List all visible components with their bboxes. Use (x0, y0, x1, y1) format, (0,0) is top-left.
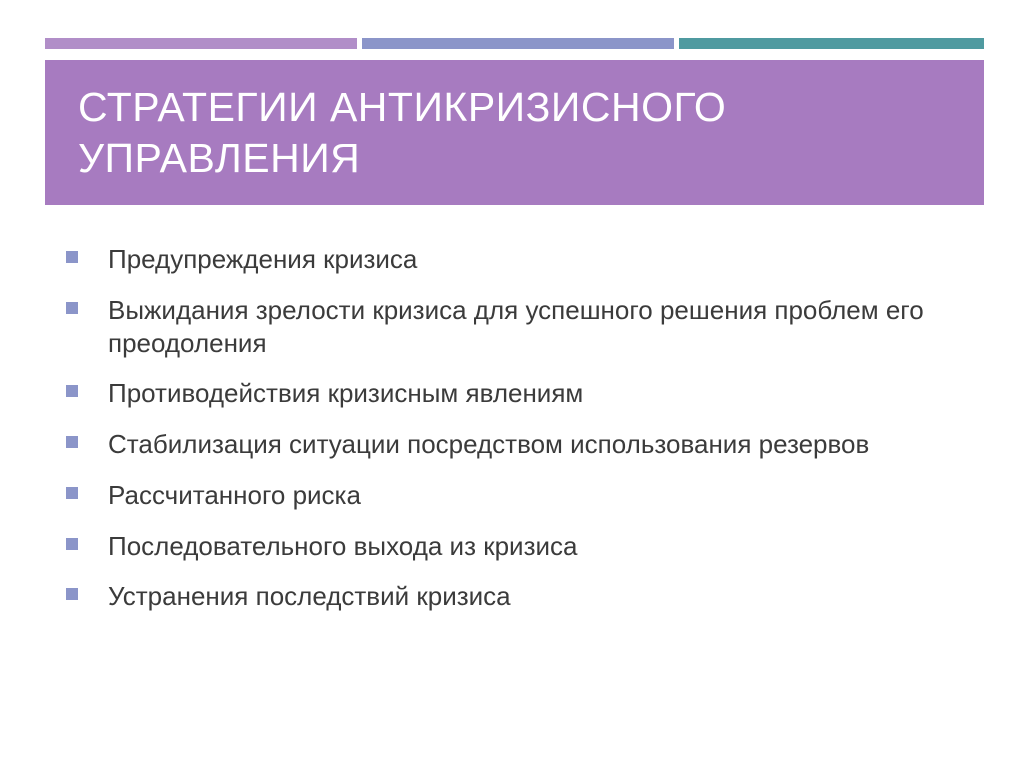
accent-bar-purple (45, 38, 357, 49)
square-bullet-icon (66, 385, 78, 397)
list-item: Противодействия кризисным явлениям (66, 377, 956, 410)
list-item-label: Предупреждения кризиса (108, 243, 417, 276)
square-bullet-icon (66, 302, 78, 314)
list-item-label: Последовательного выхода из кризиса (108, 530, 577, 563)
list-item-label: Противодействия кризисным явлениям (108, 377, 583, 410)
list-item: Устранения последствий кризиса (66, 580, 956, 613)
square-bullet-icon (66, 588, 78, 600)
square-bullet-icon (66, 538, 78, 550)
page-title: Стратегии антикризисного управления (78, 82, 878, 182)
accent-bar-group (45, 38, 984, 49)
accent-bar-teal (679, 38, 984, 49)
square-bullet-icon (66, 487, 78, 499)
slide: Стратегии антикризисного управления Пред… (0, 0, 1024, 768)
accent-bar-blue (362, 38, 674, 49)
list-item-label: Рассчитанного риска (108, 479, 361, 512)
square-bullet-icon (66, 251, 78, 263)
list-item: Последовательного выхода из кризиса (66, 530, 956, 563)
list-item: Стабилизация ситуации посредством исполь… (66, 428, 956, 461)
list-item: Рассчитанного риска (66, 479, 956, 512)
list-item-label: Стабилизация ситуации посредством исполь… (108, 428, 869, 461)
list-item-label: Устранения последствий кризиса (108, 580, 511, 613)
title-banner: Стратегии антикризисного управления (45, 60, 984, 205)
bullet-list: Предупреждения кризиса Выжидания зрелост… (66, 243, 956, 631)
list-item: Выжидания зрелости кризиса для успешного… (66, 294, 956, 360)
list-item: Предупреждения кризиса (66, 243, 956, 276)
square-bullet-icon (66, 436, 78, 448)
list-item-label: Выжидания зрелости кризиса для успешного… (108, 294, 928, 360)
